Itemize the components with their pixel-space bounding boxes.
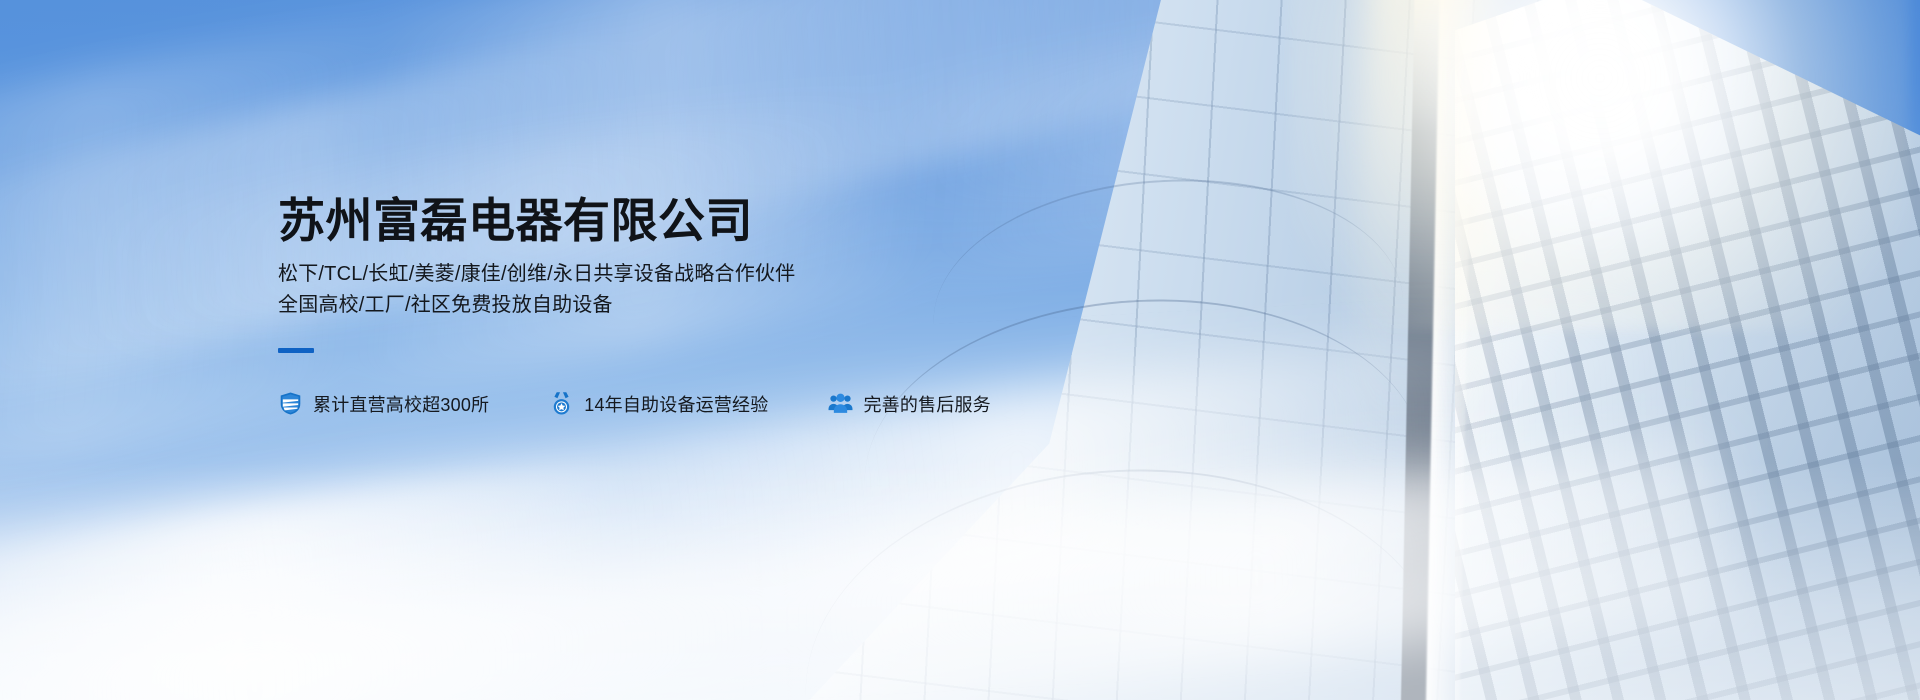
feature-label: 14年自助设备运营经验 xyxy=(584,391,768,417)
subtitle-line-partners: 松下/TCL/长虹/美菱/康佳/创维/永日共享设备战略合作伙伴 xyxy=(278,259,1098,290)
shield-icon xyxy=(278,391,303,416)
feature-badge-list: 累计直营高校超300所 14年自助设备运营经验 xyxy=(278,391,1098,417)
subtitle-list: 松下/TCL/长虹/美菱/康佳/创维/永日共享设备战略合作伙伴 全国高校/工厂/… xyxy=(278,259,1098,321)
bottom-haze xyxy=(0,462,1920,700)
subtitle-line-coverage: 全国高校/工厂/社区免费投放自助设备 xyxy=(278,290,1098,321)
feature-badge-campuses: 累计直营高校超300所 xyxy=(278,391,489,417)
feature-badge-service: 完善的售后服务 xyxy=(828,391,990,417)
feature-label: 累计直营高校超300所 xyxy=(313,391,489,417)
users-icon xyxy=(828,391,853,416)
page-title: 苏州富磊电器有限公司 xyxy=(278,196,1098,247)
accent-divider xyxy=(278,348,314,353)
hero-banner: 苏州富磊电器有限公司 松下/TCL/长虹/美菱/康佳/创维/永日共享设备战略合作… xyxy=(0,0,1920,700)
medal-icon xyxy=(549,391,574,416)
feature-badge-experience: 14年自助设备运营经验 xyxy=(549,391,768,417)
hero-text-block: 苏州富磊电器有限公司 松下/TCL/长虹/美菱/康佳/创维/永日共享设备战略合作… xyxy=(278,196,1098,417)
feature-label: 完善的售后服务 xyxy=(863,391,990,417)
sun-flare xyxy=(1290,0,1910,330)
